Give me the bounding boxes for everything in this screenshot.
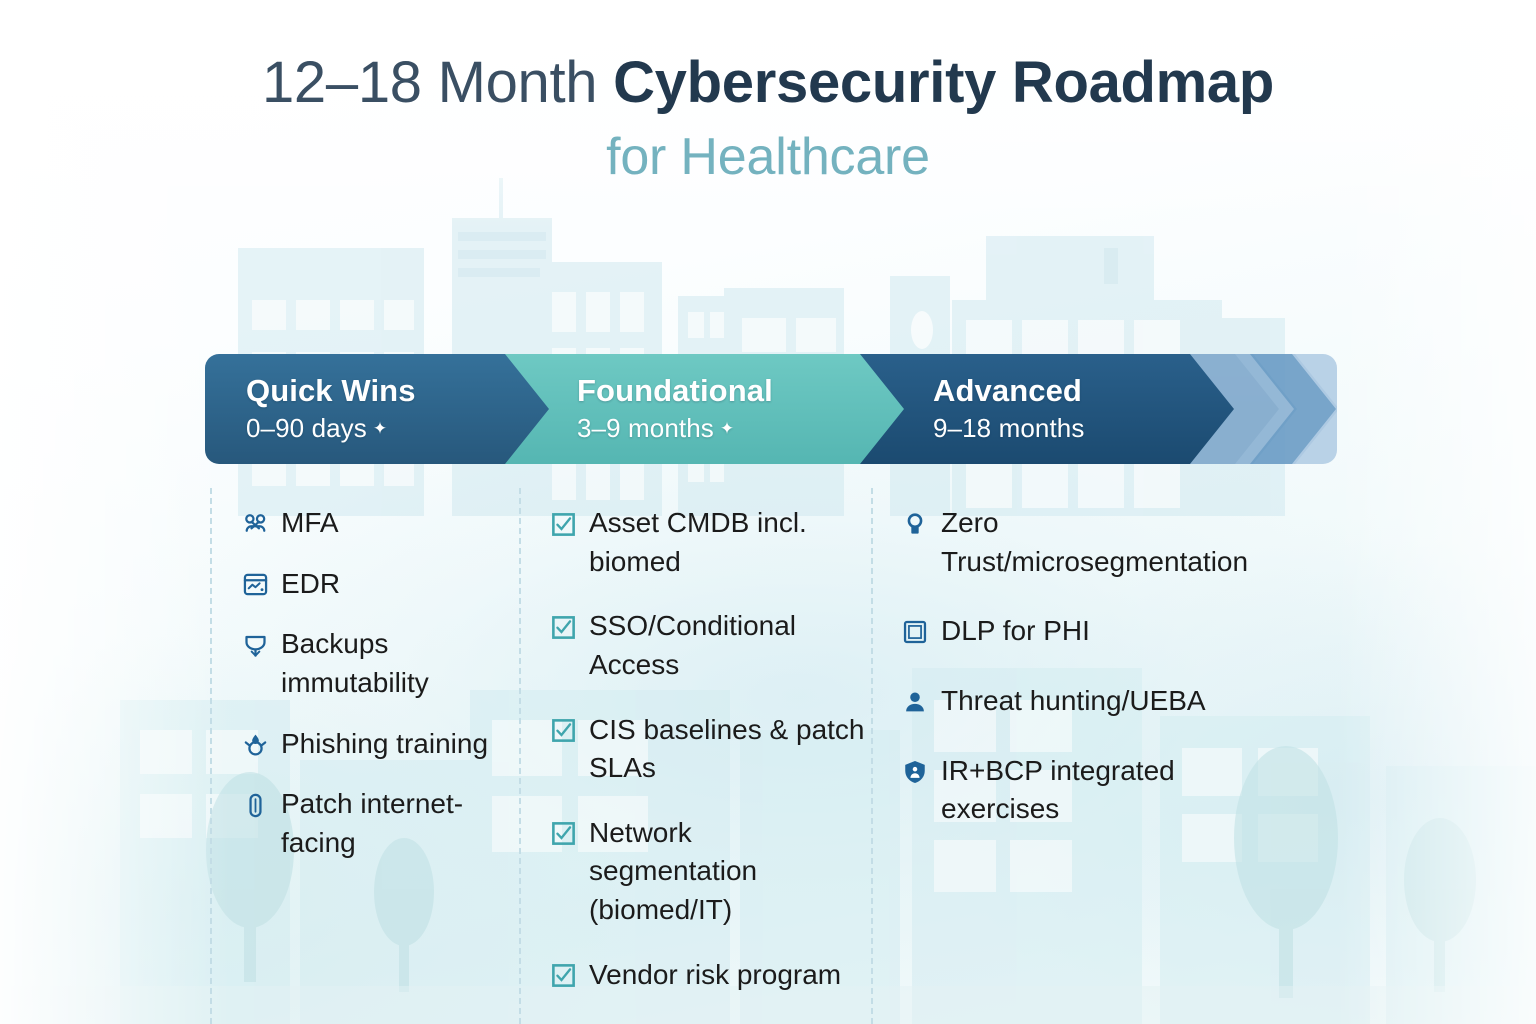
phase-banner: Quick Wins 0–90 days✦ Foundational 3–9 m… xyxy=(205,354,1351,464)
infographic-canvas: 12–18 Month Cybersecurity Roadmap for He… xyxy=(0,0,1536,1024)
list-item[interactable]: SSO/Conditional Access xyxy=(548,607,866,684)
list-item-label: SSO/Conditional Access xyxy=(589,607,866,684)
phase-name: Foundational xyxy=(577,375,773,408)
list-item[interactable]: Asset CMDB incl. biomed xyxy=(548,504,866,581)
list-item-label: IR+BCP integrated exercises xyxy=(941,752,1230,829)
column-divider-right xyxy=(871,488,873,1024)
phase-duration-row: 0–90 days✦ xyxy=(246,413,416,444)
column-foundational: Asset CMDB incl. biomed SSO/Conditional … xyxy=(548,504,866,1020)
list-item-label: Asset CMDB incl. biomed xyxy=(589,504,866,581)
phase-name: Advanced xyxy=(933,375,1090,408)
edr-monitor-icon xyxy=(240,570,270,600)
phase-name: Quick Wins xyxy=(246,375,416,408)
phase-foundational[interactable]: Foundational 3–9 months✦ xyxy=(577,375,773,444)
list-item-label: Zero Trust/microsegmentation xyxy=(941,504,1248,581)
phase-advanced[interactable]: Advanced 9–18 months xyxy=(933,375,1090,444)
page-title: 12–18 Month Cybersecurity Roadmap xyxy=(0,52,1536,115)
list-item[interactable]: MFA xyxy=(240,504,502,543)
list-item-label: Patch internet-facing xyxy=(281,785,502,862)
phase-quick-wins[interactable]: Quick Wins 0–90 days✦ xyxy=(246,375,416,444)
threat-hunter-icon xyxy=(900,687,930,717)
zero-trust-lock-icon xyxy=(900,509,930,539)
list-item[interactable]: Network segmentation (biomed/IT) xyxy=(548,814,866,930)
column-advanced: Zero Trust/microsegmentation DLP for PHI xyxy=(900,504,1230,860)
page-title-block: 12–18 Month Cybersecurity Roadmap for He… xyxy=(0,52,1536,187)
checkbox-icon xyxy=(548,612,578,642)
list-item-label: CIS baselines & patch SLAs xyxy=(589,711,866,788)
list-item-label: MFA xyxy=(281,504,339,543)
list-item-label: Backups immutability xyxy=(281,625,502,702)
phase-duration: 3–9 months xyxy=(577,413,714,443)
list-item[interactable]: EDR xyxy=(240,565,502,604)
column-quick-wins: MFA EDR xyxy=(240,504,502,884)
phishing-hook-icon xyxy=(240,730,270,760)
page-subtitle: for Healthcare xyxy=(0,127,1536,187)
title-lead: 12–18 Month xyxy=(262,50,613,115)
list-item-label: Network segmentation (biomed/IT) xyxy=(589,814,866,930)
list-item[interactable]: Phishing training xyxy=(240,725,502,764)
list-item[interactable]: Backups immutability xyxy=(240,625,502,702)
phase-duration-row: 9–18 months xyxy=(933,413,1090,444)
list-item[interactable]: Vendor risk program xyxy=(548,956,866,995)
list-item-label: DLP for PHI xyxy=(941,612,1090,651)
sparkle-icon: ✦ xyxy=(720,419,734,438)
checkbox-icon xyxy=(548,716,578,746)
checkbox-icon xyxy=(548,961,578,991)
patch-server-icon xyxy=(240,790,270,820)
list-item[interactable]: Threat hunting/UEBA xyxy=(900,682,1230,721)
phase-columns: MFA EDR xyxy=(0,488,1536,1024)
list-item-label: Threat hunting/UEBA xyxy=(941,682,1206,721)
title-emphasis: Cybersecurity Roadmap xyxy=(613,50,1274,115)
list-item[interactable]: DLP for PHI xyxy=(900,612,1230,651)
list-item[interactable]: CIS baselines & patch SLAs xyxy=(548,711,866,788)
checkbox-icon xyxy=(548,819,578,849)
list-item-label: Vendor risk program xyxy=(589,956,841,995)
backup-shield-icon xyxy=(240,630,270,660)
list-item-label: Phishing training xyxy=(281,725,488,764)
dlp-frame-icon xyxy=(900,617,930,647)
phase-duration: 9–18 months xyxy=(933,413,1084,443)
list-item[interactable]: Zero Trust/microsegmentation xyxy=(900,504,1230,581)
list-item[interactable]: IR+BCP integrated exercises xyxy=(900,752,1230,829)
list-item-label: EDR xyxy=(281,565,340,604)
mfa-key-icon xyxy=(240,509,270,539)
phase-duration-row: 3–9 months✦ xyxy=(577,413,773,444)
sparkle-icon: ✦ xyxy=(373,419,387,438)
column-divider-left xyxy=(210,488,212,1024)
ir-bcp-badge-icon xyxy=(900,757,930,787)
list-item[interactable]: Patch internet-facing xyxy=(240,785,502,862)
phase-duration: 0–90 days xyxy=(246,413,367,443)
column-divider-mid xyxy=(519,488,521,1024)
checkbox-icon xyxy=(548,509,578,539)
